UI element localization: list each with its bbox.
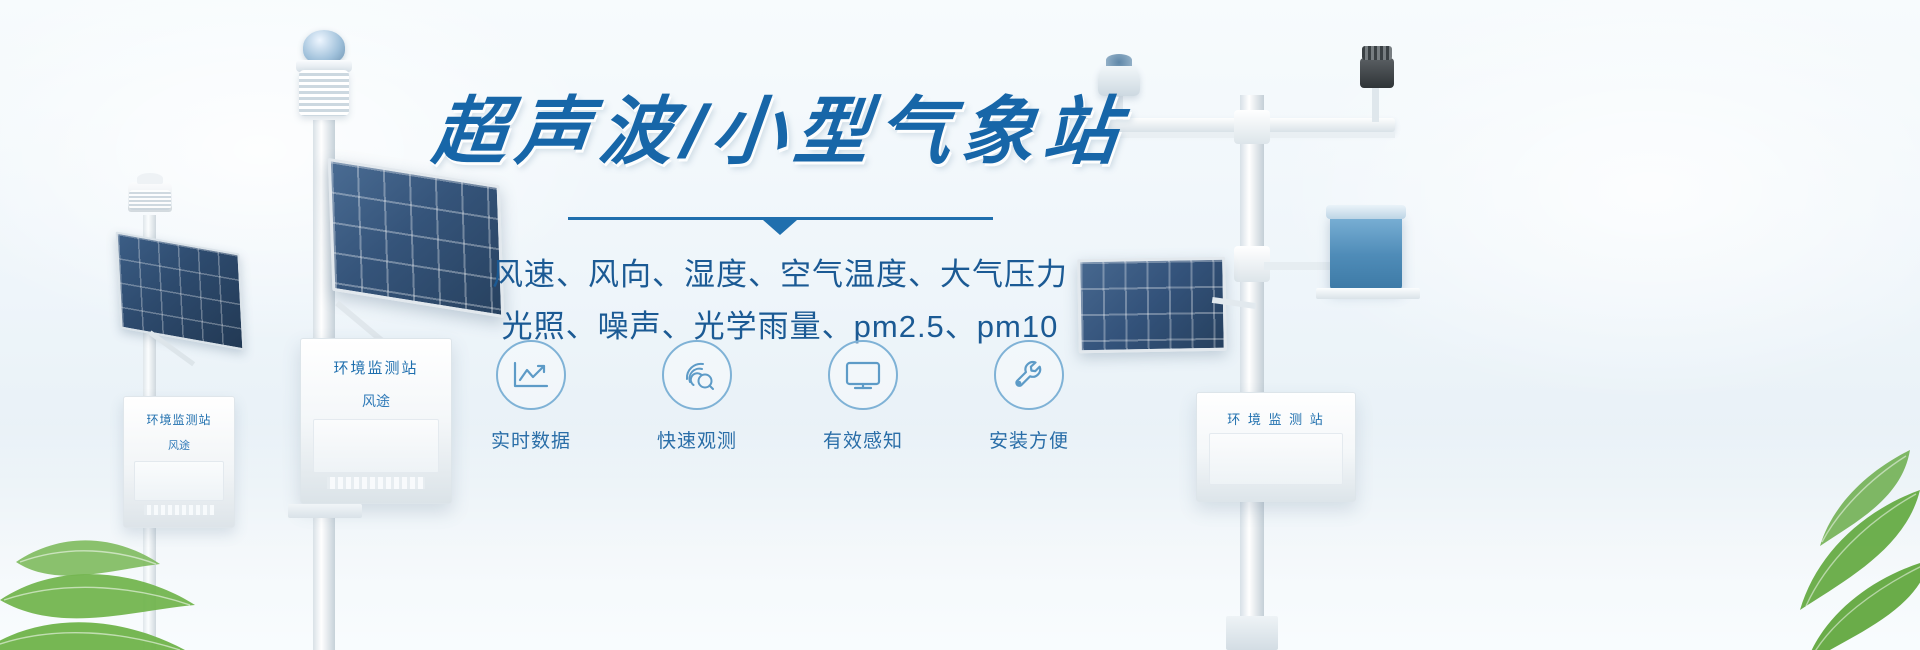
rain-gauge-arm	[1264, 262, 1330, 270]
feature-list: 实时数据 快速观测 有效感知	[430, 340, 1130, 453]
mast-base	[1226, 616, 1278, 650]
radiation-shield-sensor-icon	[299, 70, 349, 116]
control-cabinet: 环 境 监 测 站	[1196, 392, 1356, 502]
monitor-screen-icon	[828, 340, 898, 410]
rain-gauge-shelf	[1316, 288, 1420, 299]
base-plate	[288, 504, 362, 518]
arm-collar-top	[1234, 110, 1270, 144]
line-chart-icon	[496, 340, 566, 410]
radar-signal-icon	[662, 340, 732, 410]
cabinet-door	[1209, 433, 1343, 485]
feature-label: 快速观测	[635, 426, 759, 453]
leaf-decoration-right	[1610, 420, 1920, 650]
feature-item-effective-sensing[interactable]: 有效感知	[801, 340, 925, 453]
feature-item-fast-observation[interactable]: 快速观测	[635, 340, 759, 453]
feature-item-easy-installation[interactable]: 安装方便	[967, 340, 1091, 453]
feature-item-realtime-data[interactable]: 实时数据	[469, 340, 593, 453]
cabinet-label: 环境监测站	[124, 411, 234, 428]
rain-gauge-icon	[1330, 212, 1402, 290]
feature-label: 有效感知	[801, 426, 925, 453]
page-title: 超声波/小型气象站	[426, 95, 1134, 169]
subtitle-line-1: 风速、风向、湿度、空气温度、大气压力	[430, 251, 1130, 299]
leaf-decoration-left	[0, 450, 290, 650]
wrench-icon	[994, 340, 1064, 410]
divider	[568, 217, 993, 233]
wind-vane-icon	[1360, 58, 1394, 88]
mast-pole	[1240, 95, 1264, 650]
product-banner: 环境监测站 风途 环境监测站 风途	[0, 0, 1920, 650]
sky-dome-sensor-icon	[303, 30, 345, 64]
cabinet-vent	[327, 477, 425, 489]
divider-triangle-icon	[763, 220, 797, 235]
shield-fins	[129, 190, 171, 210]
cabinet-label: 环 境 监 测 站	[1197, 409, 1355, 428]
cabinet-door	[313, 419, 439, 473]
feature-label: 实时数据	[469, 426, 593, 453]
feature-label: 安装方便	[967, 426, 1091, 453]
cabinet-label: 环境监测站	[301, 357, 451, 378]
brand-label: 风途	[301, 391, 451, 411]
wind-vane-stem	[1372, 86, 1379, 122]
banner-copy: 超声波/小型气象站 风速、风向、湿度、空气温度、大气压力 光照、噪声、光学雨量、…	[430, 95, 1130, 351]
